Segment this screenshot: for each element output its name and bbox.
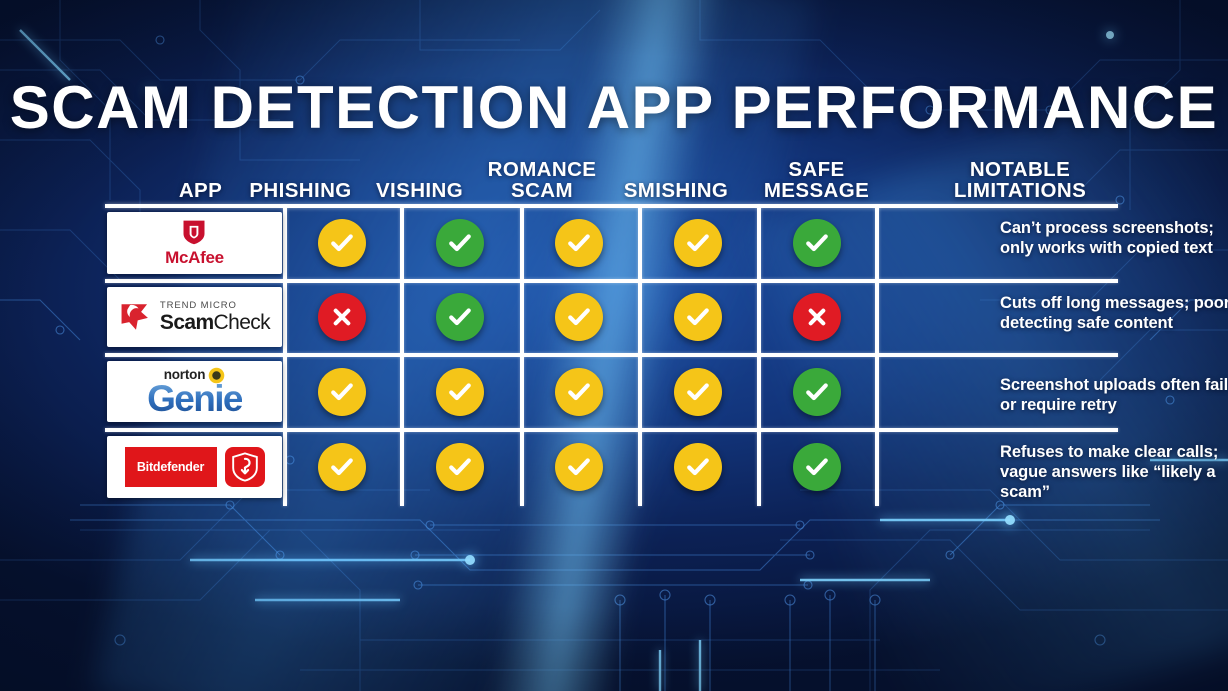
check-icon (803, 378, 831, 406)
status-badge-partial (674, 368, 722, 416)
cell-mcafee-vishing (405, 212, 515, 274)
status-badge-partial (436, 443, 484, 491)
mcafee-wordmark: McAfee (165, 248, 224, 268)
mcafee-shield-icon (180, 218, 208, 246)
check-icon (684, 378, 712, 406)
bitdefender-shield-icon (225, 447, 265, 487)
cell-trend-micro-smishing (643, 287, 752, 347)
status-badge-partial (555, 293, 603, 341)
cell-norton-genie-safe-message (762, 361, 871, 422)
check-icon (684, 303, 712, 331)
column-header-safe-message-line1: SAFE (745, 160, 888, 181)
cell-norton-genie-romance-scam (525, 361, 633, 422)
cell-trend-micro-vishing (405, 287, 515, 347)
bitdefender-wordmark: Bitdefender (137, 460, 204, 474)
check-icon (328, 229, 356, 257)
status-badge-pass (436, 219, 484, 267)
check-icon (565, 453, 593, 481)
column-header-vishing-line2: VISHING (355, 181, 484, 202)
column-header-notable-limitations-line2: LIMITATIONS (905, 181, 1135, 202)
column-header-safe-message-line2: MESSAGE (745, 181, 888, 202)
norton-genie-logo: norton Genie (147, 367, 242, 417)
limitation-text-norton-genie: Screenshot uploads often fail or require… (1000, 375, 1228, 415)
status-badge-fail (318, 293, 366, 341)
column-header-notable-limitations-line1: NOTABLE (905, 160, 1135, 181)
app-logo-card-trend-micro: TREND MICRO ScamCheck (107, 287, 282, 347)
cell-bitdefender-romance-scam (525, 436, 633, 498)
status-badge-partial (555, 443, 603, 491)
cell-bitdefender-safe-message (762, 436, 871, 498)
status-badge-pass (436, 293, 484, 341)
status-badge-partial (555, 219, 603, 267)
trend-micro-top-text: TREND MICRO (160, 301, 270, 311)
check-icon (684, 453, 712, 481)
genie-wordmark: Genie (147, 380, 242, 417)
column-header-safe-message: SAFE MESSAGE (745, 160, 888, 202)
check-icon (446, 303, 474, 331)
header-divider-line (105, 204, 1118, 208)
table-header-row: APP PHISHING VISHING ROMANCE SCAM SMISHI… (105, 150, 1125, 202)
check-icon (446, 229, 474, 257)
trend-micro-wordmark: TREND MICRO ScamCheck (160, 301, 270, 334)
cell-mcafee-phishing (288, 212, 396, 274)
mcafee-logo: McAfee (165, 218, 224, 268)
column-header-vishing: VISHING (355, 181, 484, 202)
row-divider-3 (105, 428, 1118, 432)
scamcheck-text: ScamCheck (160, 312, 270, 333)
check-icon (565, 378, 593, 406)
bitdefender-wordmark-box: Bitdefender (125, 447, 217, 487)
status-badge-partial (318, 219, 366, 267)
cell-norton-genie-vishing (405, 361, 515, 422)
row-divider-2 (105, 353, 1118, 357)
column-header-notable-limitations: NOTABLE LIMITATIONS (905, 160, 1135, 202)
status-badge-partial (436, 368, 484, 416)
status-badge-pass (793, 368, 841, 416)
status-badge-partial (318, 368, 366, 416)
column-header-smishing-line2: SMISHING (606, 181, 746, 202)
check-icon (565, 229, 593, 257)
scamcheck-light: Check (214, 311, 271, 334)
limitation-text-bitdefender: Refuses to make clear calls; vague answe… (1000, 442, 1228, 502)
column-header-romance-scam-line1: ROMANCE (472, 160, 612, 181)
close-icon (804, 304, 830, 330)
scamcheck-bold: Scam (160, 311, 214, 334)
status-badge-partial (674, 443, 722, 491)
trend-micro-scamcheck-logo: TREND MICRO ScamCheck (119, 300, 270, 334)
check-icon (446, 378, 474, 406)
status-badge-fail (793, 293, 841, 341)
close-icon (329, 304, 355, 330)
cell-mcafee-romance-scam (525, 212, 633, 274)
cell-bitdefender-phishing (288, 436, 396, 498)
column-header-romance-scam: ROMANCE SCAM (472, 160, 612, 202)
cell-trend-micro-safe-message (762, 287, 871, 347)
limitation-text-trend-micro: Cuts off long messages; poor at detectin… (1000, 293, 1228, 333)
scam-detection-comparison-table: APP PHISHING VISHING ROMANCE SCAM SMISHI… (105, 150, 1125, 510)
row-divider-1 (105, 279, 1118, 283)
app-logo-card-mcafee: McAfee (107, 212, 282, 274)
status-badge-pass (793, 443, 841, 491)
check-icon (328, 378, 356, 406)
trend-micro-mark-icon (119, 300, 153, 334)
status-badge-partial (555, 368, 603, 416)
check-icon (328, 453, 356, 481)
status-badge-partial (318, 443, 366, 491)
check-icon (446, 453, 474, 481)
app-logo-card-bitdefender: Bitdefender (107, 436, 282, 498)
cell-mcafee-smishing (643, 212, 752, 274)
column-header-phishing-line2: PHISHING (236, 181, 365, 202)
status-badge-partial (674, 293, 722, 341)
cell-bitdefender-smishing (643, 436, 752, 498)
cell-mcafee-safe-message (762, 212, 871, 274)
status-badge-pass (793, 219, 841, 267)
cell-norton-genie-phishing (288, 361, 396, 422)
status-badge-partial (674, 219, 722, 267)
cell-trend-micro-phishing (288, 287, 396, 347)
column-header-smishing: SMISHING (606, 181, 746, 202)
check-icon (565, 303, 593, 331)
app-logo-card-norton-genie: norton Genie (107, 361, 282, 422)
cell-norton-genie-smishing (643, 361, 752, 422)
check-icon (803, 229, 831, 257)
cell-trend-micro-romance-scam (525, 287, 633, 347)
check-icon (684, 229, 712, 257)
column-header-phishing: PHISHING (236, 181, 365, 202)
cell-bitdefender-vishing (405, 436, 515, 498)
column-header-romance-scam-line2: SCAM (472, 181, 612, 202)
check-icon (803, 453, 831, 481)
limitation-text-mcafee: Can’t process screenshots; only works wi… (1000, 218, 1228, 258)
bitdefender-logo: Bitdefender (125, 447, 265, 487)
page-title: SCAM DETECTION APP PERFORMANCE (0, 78, 1228, 138)
